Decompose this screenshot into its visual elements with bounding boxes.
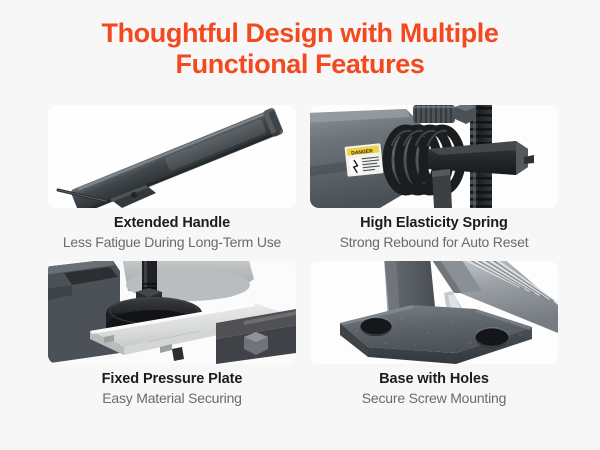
page-title-line2: Functional Features	[0, 49, 600, 80]
feature-image-fixed-pressure-plate	[48, 261, 296, 364]
mounting-hole-right	[475, 329, 509, 348]
extended-handle-illustration	[48, 105, 296, 208]
page-title: Thoughtful Design with Multiple Function…	[0, 0, 600, 80]
feature-image-base-with-holes	[310, 261, 558, 364]
warning-label-icon: DANGER	[345, 143, 384, 177]
feature-grid: Extended Handle Less Fatigue During Long…	[48, 105, 558, 408]
feature-image-extended-handle	[48, 105, 296, 208]
feature-title: Fixed Pressure Plate	[48, 370, 296, 388]
knurled-knob	[413, 105, 455, 123]
feature-title: High Elasticity Spring	[310, 214, 558, 232]
feature-caption-high-elasticity-spring: High Elasticity Spring Strong Rebound fo…	[310, 208, 558, 252]
feature-subtitle: Less Fatigue During Long-Term Use	[48, 233, 296, 252]
feature-card-base-with-holes[interactable]: Base with Holes Secure Screw Mounting	[310, 261, 558, 408]
feature-caption-fixed-pressure-plate: Fixed Pressure Plate Easy Material Secur…	[48, 364, 296, 408]
feature-card-extended-handle[interactable]: Extended Handle Less Fatigue During Long…	[48, 105, 296, 252]
feature-title: Extended Handle	[48, 214, 296, 232]
feature-caption-extended-handle: Extended Handle Less Fatigue During Long…	[48, 208, 296, 252]
feature-subtitle: Easy Material Securing	[48, 389, 296, 408]
feature-card-high-elasticity-spring[interactable]: DANGER	[310, 105, 558, 252]
feature-subtitle: Strong Rebound for Auto Reset	[310, 233, 558, 252]
mounting-hole-left	[360, 318, 392, 336]
high-elasticity-spring-illustration: DANGER	[310, 105, 558, 208]
feature-caption-base-with-holes: Base with Holes Secure Screw Mounting	[310, 364, 558, 408]
feature-subtitle: Secure Screw Mounting	[310, 389, 558, 408]
feature-image-high-elasticity-spring: DANGER	[310, 105, 558, 208]
feature-card-fixed-pressure-plate[interactable]: Fixed Pressure Plate Easy Material Secur…	[48, 261, 296, 408]
feature-title: Base with Holes	[310, 370, 558, 388]
base-with-holes-illustration	[310, 261, 558, 364]
page-title-line1: Thoughtful Design with Multiple	[101, 18, 498, 48]
fixed-pressure-plate-illustration	[48, 261, 296, 364]
feature-grid-page: Thoughtful Design with Multiple Function…	[0, 0, 600, 450]
